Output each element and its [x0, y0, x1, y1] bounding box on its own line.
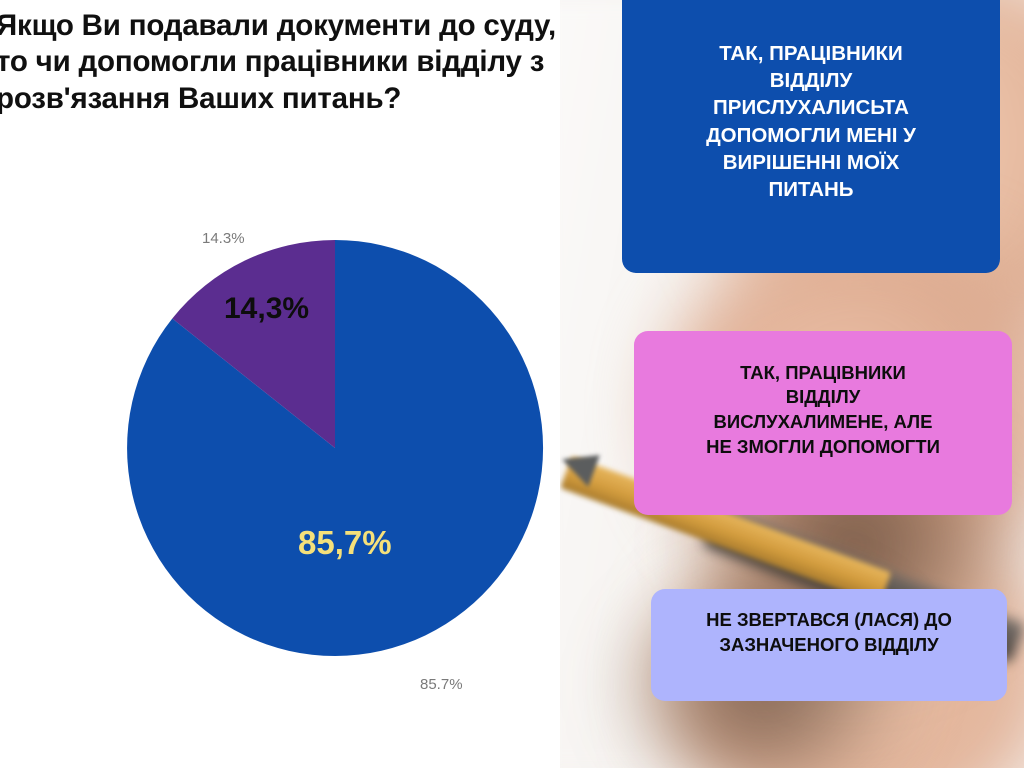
- pie-chart: 85,7% 14,3% 14.3% 85.7%: [96, 214, 596, 714]
- legend-item-did-not-contact[interactable]: НЕ ЗВЕРТАВСЯ (ЛАСЯ) ДО ЗАЗНАЧЕНОГО ВІДДІ…: [651, 589, 1007, 701]
- slide-canvas: Якщо Ви подавали документи до суду, то ч…: [0, 0, 1024, 768]
- page-title: Якщо Ви подавали документи до суду, то ч…: [0, 8, 556, 117]
- pie-chart-svg: [96, 214, 596, 714]
- legend-item-yes-listened-could-not-help[interactable]: ТАК, ПРАЦІВНИКИ ВІДДІЛУ ВИСЛУХАЛИМЕНЕ, А…: [634, 331, 1012, 515]
- legend-item-yes-helped[interactable]: ТАК, ПРАЦІВНИКИ ВІДДІЛУ ПРИСЛУХАЛИСЬТА Д…: [622, 0, 1000, 273]
